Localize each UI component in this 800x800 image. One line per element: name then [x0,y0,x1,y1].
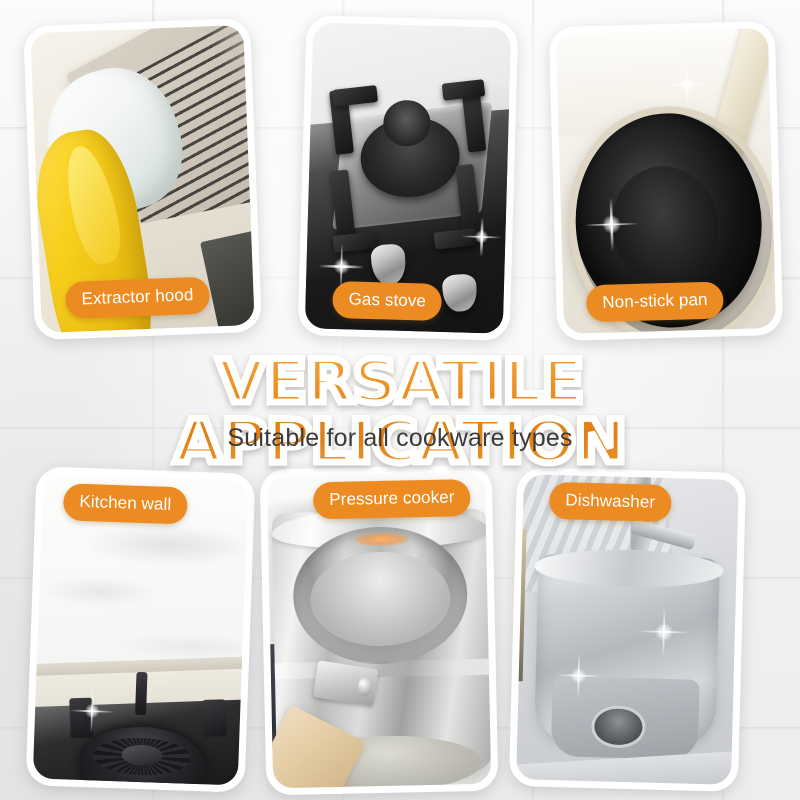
badge-gas-stove[interactable]: Gas stove [332,281,442,321]
panel-non-stick-pan[interactable]: Non-stick pan [549,21,784,341]
pot-handle-rivet [358,677,371,696]
grate-arm [332,85,377,107]
badge-pressure-cooker[interactable]: Pressure cooker [313,479,471,519]
page-title: VERSATILE APPLICATION [0,352,800,472]
pan-support [202,699,226,736]
panel-dishwasher[interactable]: Dishwasher [509,467,746,792]
badge-non-stick-pan[interactable]: Non-stick pan [586,281,724,322]
headline-container: VERSATILE APPLICATION [0,352,800,472]
panel-gas-stove[interactable]: Gas stove [298,15,519,341]
badge-dishwasher[interactable]: Dishwasher [549,482,672,522]
adjacent-appliance [516,529,527,682]
panel-extractor-hood[interactable]: Extractor hood [23,18,262,340]
badge-extractor-hood[interactable]: Extractor hood [65,277,210,319]
pressure-cooker-photo [267,472,491,788]
badge-kitchen-wall[interactable]: Kitchen wall [63,483,188,524]
promo-banner: Extractor hood Gas stove [0,0,800,800]
page-subtitle: Suitable for all cookware types [0,424,800,453]
panel-pressure-cooker[interactable]: Pressure cooker [260,465,499,796]
pan-support [69,697,93,737]
panel-kitchen-wall[interactable]: Kitchen wall [26,466,256,792]
pan-support [135,672,147,715]
